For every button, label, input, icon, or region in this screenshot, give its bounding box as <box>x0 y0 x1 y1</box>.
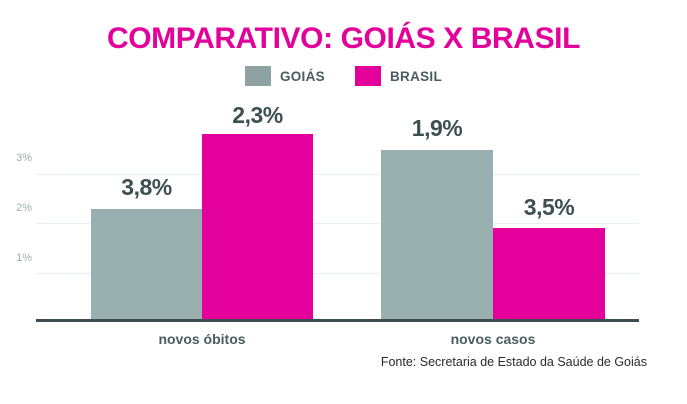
chart-page: COMPARATIVO: GOIÁS X BRASIL GOIÁS BRASIL… <box>0 0 687 404</box>
category-label-novos-obitos: novos óbitos <box>91 331 313 347</box>
bar-value-brasil-novos-casos: 3,5% <box>493 194 605 221</box>
category-label-novos-casos: novos casos <box>381 331 605 347</box>
bar-value-brasil-novos-obitos: 2,3% <box>202 102 313 129</box>
legend-item-brasil: BRASIL <box>355 66 442 86</box>
bar-goias-novos-casos[interactable] <box>381 150 493 320</box>
bar-brasil-novos-obitos[interactable] <box>202 134 313 320</box>
x-axis-line <box>36 319 639 322</box>
legend-label-brasil: BRASIL <box>390 69 442 84</box>
y-tick-label-3: 3% <box>6 152 32 164</box>
bar-brasil-novos-casos[interactable] <box>493 228 605 320</box>
page-title: COMPARATIVO: GOIÁS X BRASIL <box>0 22 687 56</box>
legend-item-goias: GOIÁS <box>245 66 325 86</box>
legend-label-goias: GOIÁS <box>280 69 325 84</box>
y-tick-label-1: 1% <box>6 252 32 264</box>
legend-swatch-goias-icon <box>245 66 271 86</box>
bar-goias-novos-obitos[interactable] <box>91 209 202 320</box>
y-tick-label-2: 2% <box>6 202 32 214</box>
bar-value-goias-novos-casos: 1,9% <box>381 115 493 142</box>
bar-value-goias-novos-obitos: 3,8% <box>91 174 202 201</box>
source-note: Fonte: Secretaria de Estado da Saúde de … <box>381 355 647 369</box>
chart-legend: GOIÁS BRASIL <box>0 66 687 86</box>
legend-swatch-brasil-icon <box>355 66 381 86</box>
